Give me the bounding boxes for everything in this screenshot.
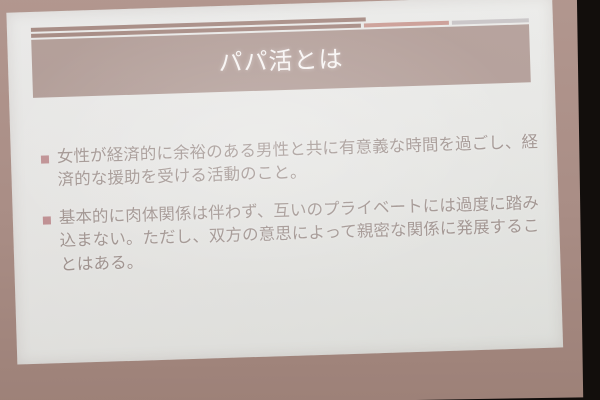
bullet-text: 女性が経済的に余裕のある男性と共に有意義な時間を過ごし、経済的な援助を受ける活動…: [57, 130, 542, 192]
square-bullet-icon: [41, 155, 49, 163]
list-item: 基本的に肉体関係は伴わず、互いのプライベートには過度に踏み込まない。ただし、双方…: [42, 191, 544, 277]
list-item: 女性が経済的に余裕のある男性と共に有意義な時間を過ごし、経済的な援助を受ける活動…: [41, 130, 542, 193]
projector-screen-frame: パパ活とは 女性が経済的に余裕のある男性と共に有意義な時間を過ごし、経済的な援助…: [0, 0, 583, 400]
bullet-text: 基本的に肉体関係は伴わず、互いのプライベートには過度に踏み込まない。ただし、双方…: [58, 191, 544, 276]
slide-body: 女性が経済的に余裕のある男性と共に有意義な時間を過ごし、経済的な援助を受ける活動…: [41, 130, 545, 291]
square-bullet-icon: [43, 216, 51, 224]
projected-slide-photo: パパ活とは 女性が経済的に余裕のある男性と共に有意義な時間を過ごし、経済的な援助…: [0, 0, 600, 400]
presentation-slide: パパ活とは 女性が経済的に余裕のある男性と共に有意義な時間を過ごし、経済的な援助…: [6, 0, 563, 365]
slide-title: パパ活とは: [218, 47, 344, 75]
